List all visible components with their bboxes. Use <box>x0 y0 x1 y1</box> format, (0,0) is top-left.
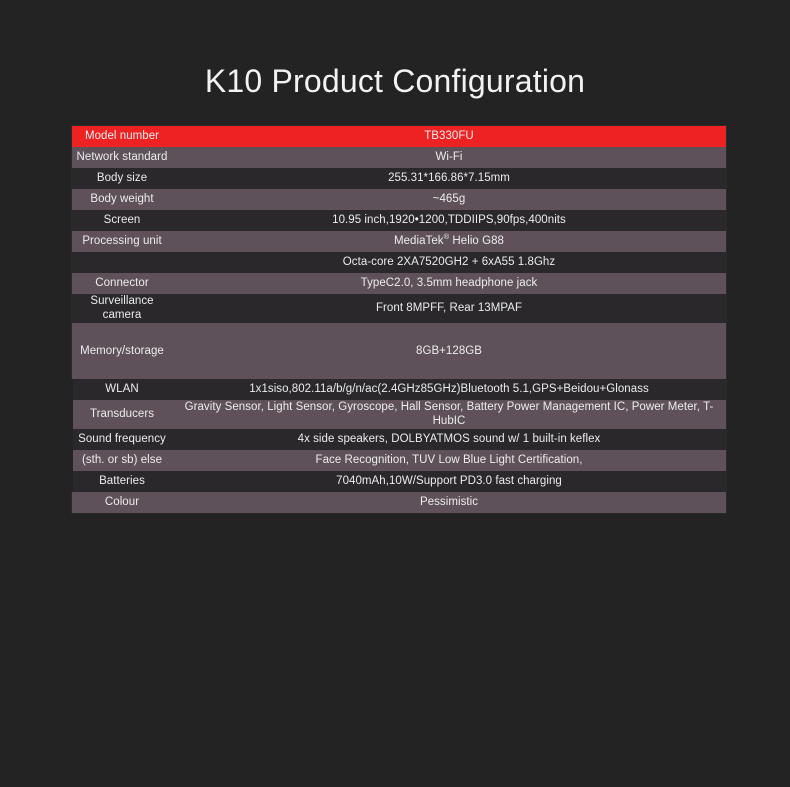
spec-value: 10.95 inch,1920•1200,TDDIIPS,90fps,400ni… <box>172 210 726 231</box>
table-row: Processing unitMediaTek® Helio G88 <box>72 231 726 252</box>
spec-value: 1x1siso,802.11a/b/g/n/ac(2.4GHz85GHz)Blu… <box>172 379 726 400</box>
table-row: Sound frequency4x side speakers, DOLBYAT… <box>72 429 726 450</box>
spec-value: 7040mAh,10W/Support PD3.0 fast charging <box>172 471 726 492</box>
spec-value: ~465g <box>172 189 726 210</box>
table-row: (sth. or sb) elseFace Recognition, TUV L… <box>72 450 726 471</box>
spec-label: Colour <box>72 492 172 513</box>
spec-value: 4x side speakers, DOLBYATMOS sound w/ 1 … <box>172 429 726 450</box>
spec-value: TB330FU <box>172 126 726 147</box>
spec-label: Surveillance camera <box>72 294 172 323</box>
spec-label: Sound frequency <box>72 429 172 450</box>
spec-value: Gravity Sensor, Light Sensor, Gyroscope,… <box>172 400 726 429</box>
spec-label: Screen <box>72 210 172 231</box>
spec-label <box>72 252 172 273</box>
spec-label: Connector <box>72 273 172 294</box>
spec-value: Front 8MPFF, Rear 13MPAF <box>172 294 726 323</box>
spec-value: Pessimistic <box>172 492 726 513</box>
spec-value: 255.31*166.86*7.15mm <box>172 168 726 189</box>
table-row: Network standardWi-Fi <box>72 147 726 168</box>
spec-value: TypeC2.0, 3.5mm headphone jack <box>172 273 726 294</box>
spec-label: Network standard <box>72 147 172 168</box>
table-row: Model numberTB330FU <box>72 126 726 147</box>
spec-label: Transducers <box>72 400 172 429</box>
specification-table: Model numberTB330FUNetwork standardWi-Fi… <box>72 126 726 513</box>
table-row: ColourPessimistic <box>72 492 726 513</box>
spec-label: Body weight <box>72 189 172 210</box>
page-title: K10 Product Configuration <box>0 60 790 102</box>
spec-label: (sth. or sb) else <box>72 450 172 471</box>
spec-label: WLAN <box>72 379 172 400</box>
table-row: Screen10.95 inch,1920•1200,TDDIIPS,90fps… <box>72 210 726 231</box>
spec-value: MediaTek® Helio G88 <box>172 231 726 252</box>
spec-value: Octa-core 2XA7520GH2 + 6xA55 1.8Ghz <box>172 252 726 273</box>
table-row: WLAN1x1siso,802.11a/b/g/n/ac(2.4GHz85GHz… <box>72 379 726 400</box>
spec-value: Wi-Fi <box>172 147 726 168</box>
spec-value: 8GB+128GB <box>172 323 726 379</box>
spec-label: Body size <box>72 168 172 189</box>
table-row: Batteries7040mAh,10W/Support PD3.0 fast … <box>72 471 726 492</box>
spec-label: Batteries <box>72 471 172 492</box>
spec-label: Model number <box>72 126 172 147</box>
table-row: Memory/storage8GB+128GB <box>72 323 726 379</box>
table-row: TransducersGravity Sensor, Light Sensor,… <box>72 400 726 429</box>
spec-label: Memory/storage <box>72 323 172 379</box>
table-row: Octa-core 2XA7520GH2 + 6xA55 1.8Ghz <box>72 252 726 273</box>
table-row: Body weight~465g <box>72 189 726 210</box>
spec-label: Processing unit <box>72 231 172 252</box>
table-row: Body size255.31*166.86*7.15mm <box>72 168 726 189</box>
table-row: ConnectorTypeC2.0, 3.5mm headphone jack <box>72 273 726 294</box>
table-row: Surveillance cameraFront 8MPFF, Rear 13M… <box>72 294 726 323</box>
spec-value: Face Recognition, TUV Low Blue Light Cer… <box>172 450 726 471</box>
specification-table-body: Model numberTB330FUNetwork standardWi-Fi… <box>72 126 726 513</box>
